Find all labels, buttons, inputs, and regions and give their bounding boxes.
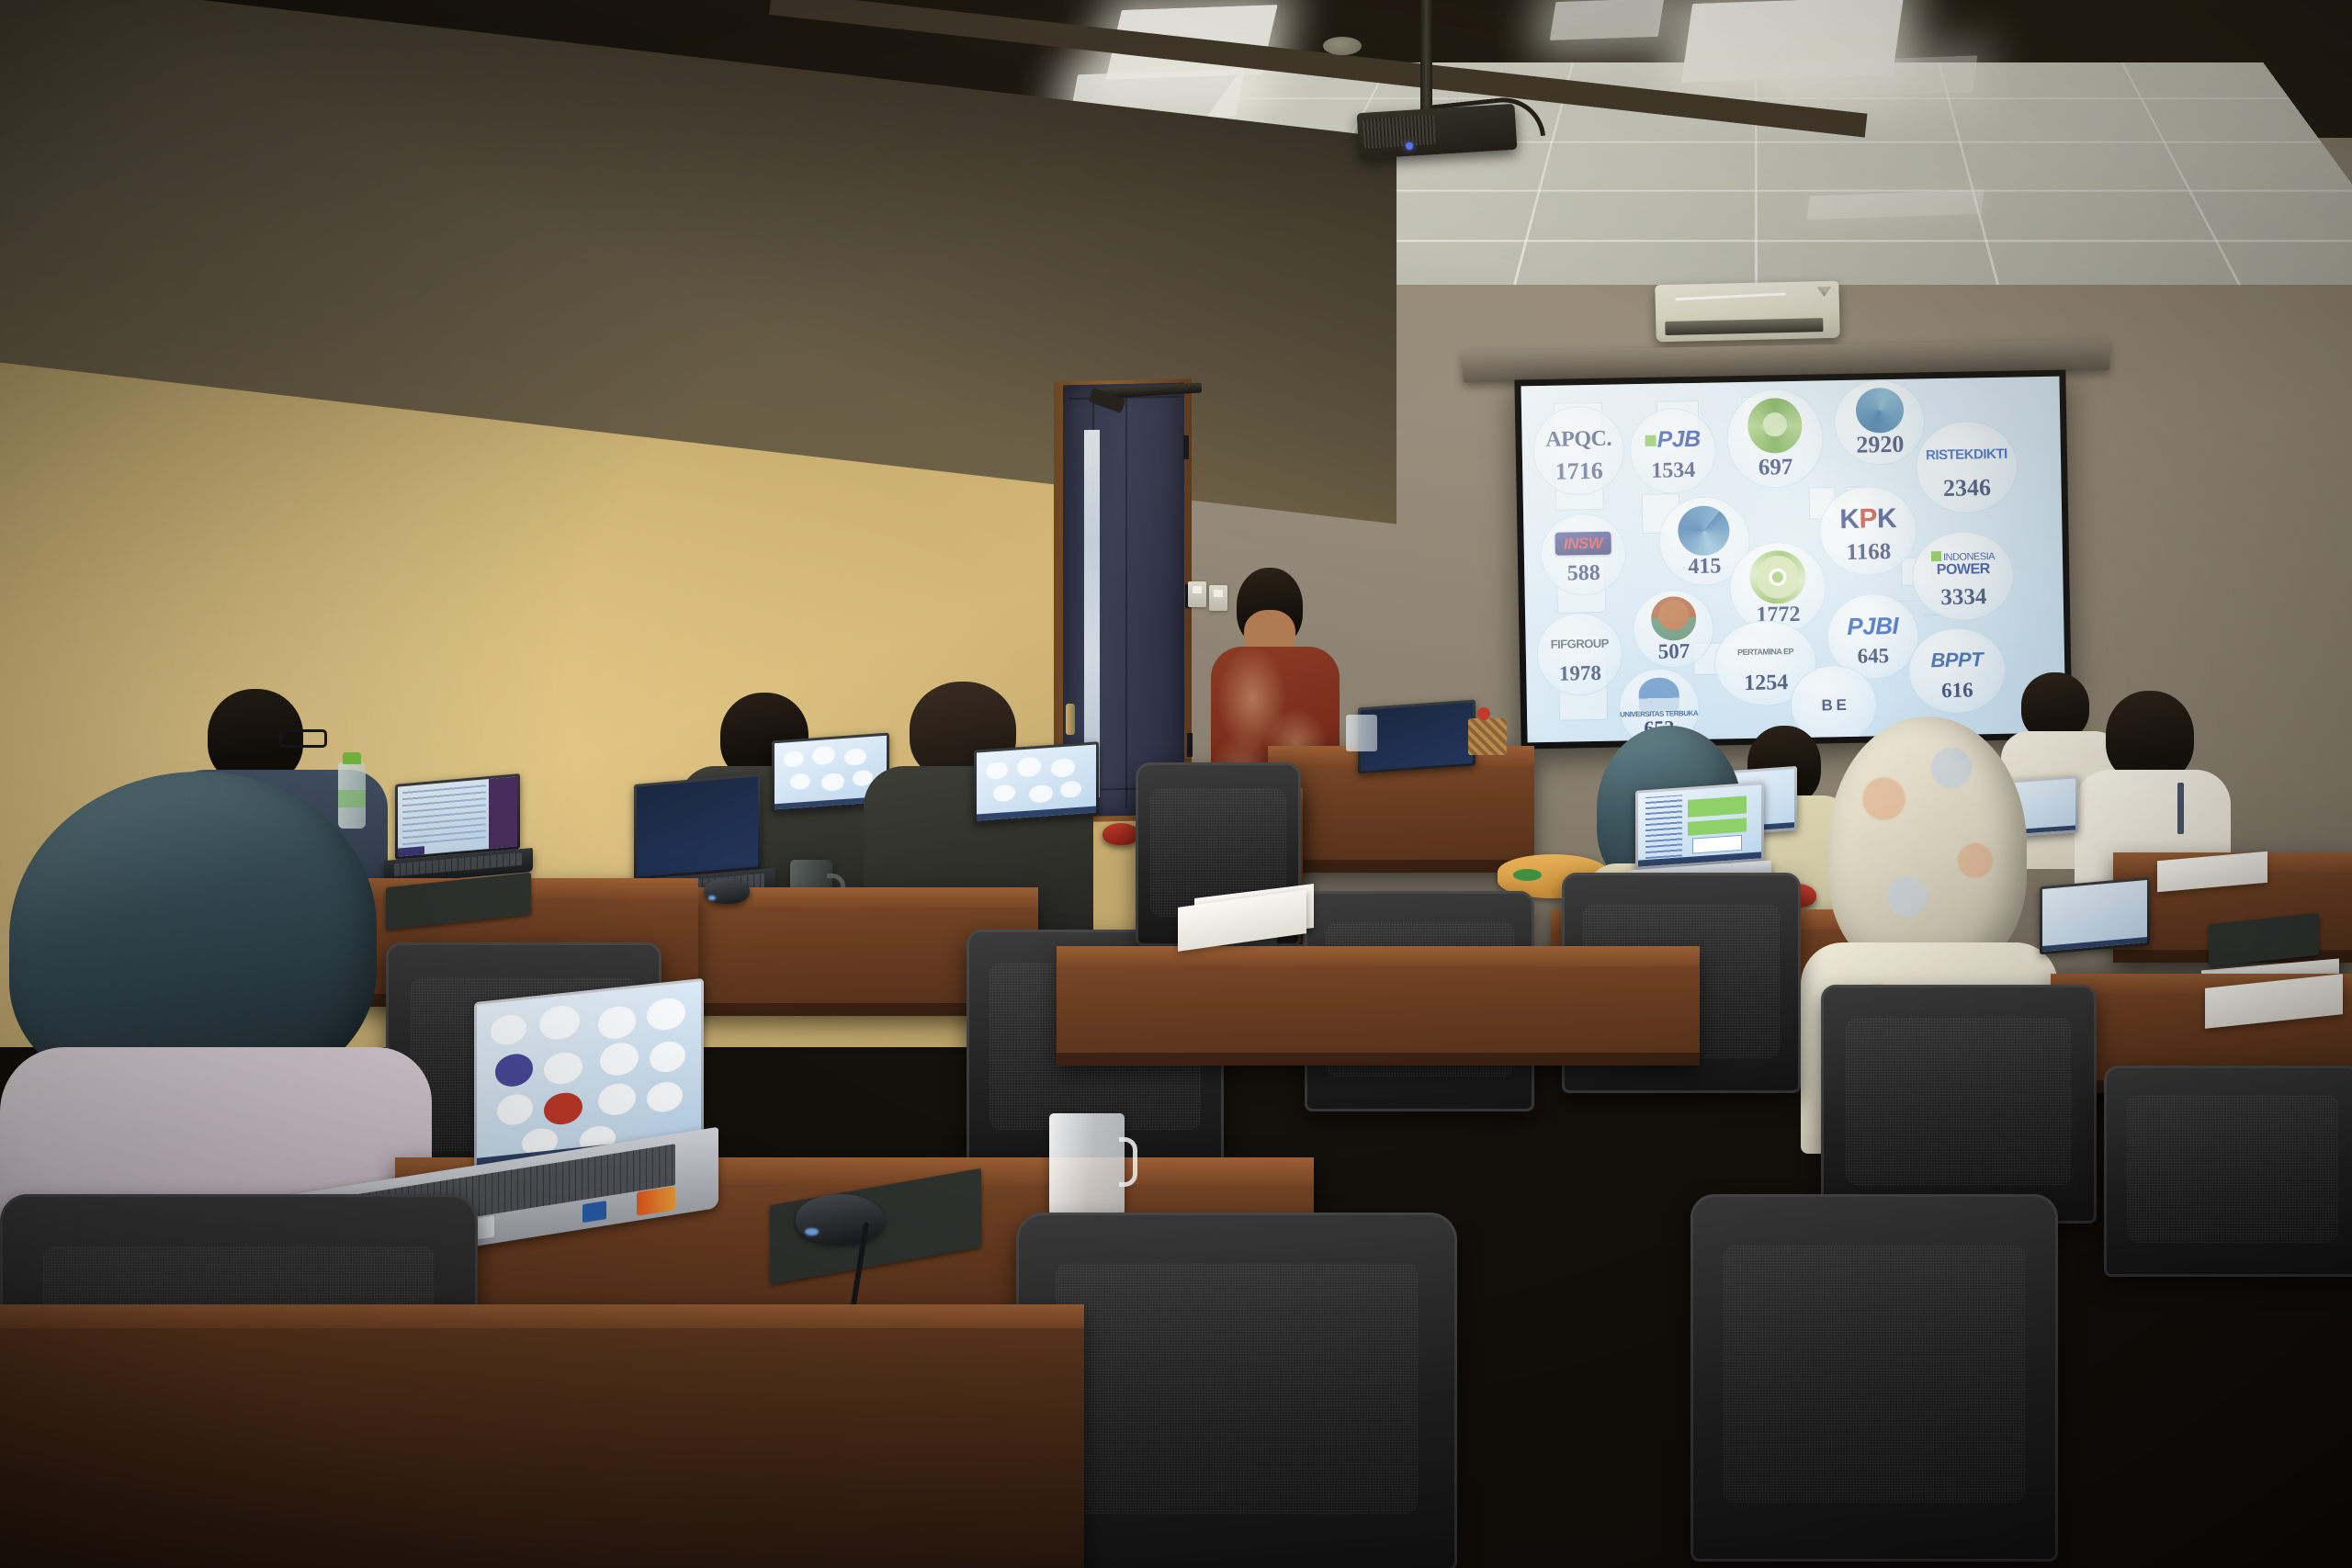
pertamina-ep-logo: PERTAMINA EP: [1714, 632, 1817, 673]
garuda-crest-icon: [1747, 397, 1803, 454]
bubble-value: 616: [1941, 680, 1973, 702]
bubble-ristekdikti: RISTEKDIKTI 2346: [1915, 420, 2018, 514]
water-glass: [1346, 715, 1377, 751]
kpk-logo: KPK: [1819, 499, 1917, 542]
bubble-insw: INSW 588: [1540, 513, 1627, 596]
ristekdikti-logo: RISTEKDIKTI: [1915, 433, 2018, 477]
office-chair[interactable]: [1821, 985, 2097, 1224]
bubble-value: 3334: [1940, 585, 1986, 609]
insw-logo: INSW: [1540, 524, 1626, 563]
door-hinge: [1187, 733, 1193, 757]
ceiling-light-panel: [1781, 55, 1978, 98]
pen-basket: [1468, 718, 1507, 755]
star-crest-icon: [1749, 550, 1806, 605]
bubble-value: 645: [1857, 645, 1889, 667]
hijab: [9, 772, 377, 1093]
bubble-value: 2920: [1856, 433, 1904, 457]
pupr-crest-icon: [1678, 505, 1730, 556]
training-room-photo: APQC. 1716 PJB 1534 697 2920 RISTEKDIKTI…: [0, 0, 2352, 1568]
projector: [1357, 104, 1518, 159]
bubble-esdm: 2920: [1833, 378, 1926, 466]
bubble-value: 697: [1758, 456, 1793, 479]
pjbi-logo: PJBI: [1826, 605, 1918, 647]
bubble-garuda: 697: [1725, 388, 1824, 490]
door-hinge: [1183, 435, 1189, 459]
bubble-value: 1254: [1744, 671, 1788, 694]
upi-crest-icon: [1650, 596, 1696, 641]
mug-foreground: [1049, 1113, 1125, 1222]
esdm-crest-icon: [1855, 388, 1904, 433]
indonesia-power-logo: INDONESIA POWER: [1912, 542, 2015, 587]
projection-screen-frame: APQC. 1716 PJB 1534 697 2920 RISTEKDIKTI…: [1514, 370, 2072, 750]
bubble-apqc: APQC. 1716: [1532, 406, 1625, 497]
lanyard: [2177, 783, 2184, 834]
bubble-pjb: PJB 1534: [1629, 408, 1716, 495]
projected-slide: APQC. 1716 PJB 1534 697 2920 RISTEKDIKTI…: [1521, 377, 2065, 743]
projector-mount-pole: [1420, 0, 1432, 118]
laptop-sticker: [582, 1201, 606, 1223]
pjb-logo: PJB: [1629, 420, 1716, 461]
smoke-detector-icon: [1323, 37, 1362, 55]
bubble-indonesia-power: INDONESIA POWER 3334: [1911, 530, 2015, 621]
desk-front-edge: [0, 1304, 1084, 1568]
bubble-value: 1168: [1846, 540, 1891, 564]
mouse[interactable]: [704, 878, 750, 904]
eyeglasses-icon: [279, 729, 327, 748]
ut-crest-icon: [1638, 677, 1679, 711]
hijab: [1828, 716, 2027, 974]
bubble-value: 2346: [1943, 476, 1991, 501]
bubble-value: 588: [1566, 562, 1600, 585]
fifgroup-logo: FIFGROUP: [1536, 624, 1623, 663]
bubble-value: 415: [1688, 555, 1721, 578]
bubble-value: 1534: [1651, 459, 1695, 482]
bubble-value: 1716: [1555, 459, 1602, 484]
bubble-fifgroup: FIFGROUP 1978: [1536, 613, 1623, 696]
ceiling-light-panel: [1550, 0, 1665, 40]
bubble-value: 507: [1657, 640, 1690, 662]
light-switch-plate[interactable]: [1188, 581, 1206, 607]
bubble-value: 1978: [1559, 662, 1601, 684]
decor-item: [1477, 707, 1490, 720]
projector-led-icon: [1406, 142, 1413, 150]
laptop-sticker: [637, 1186, 675, 1216]
apqc-logo: APQC.: [1532, 418, 1624, 460]
office-chair[interactable]: [1690, 1194, 2058, 1562]
desk-center: [1057, 946, 1700, 1066]
air-conditioner: [1655, 281, 1839, 343]
bppt-logo: BPPT: [1908, 639, 2006, 681]
mouse-foreground[interactable]: [796, 1194, 884, 1244]
office-chair[interactable]: [2104, 1066, 2352, 1277]
mouse[interactable]: [1102, 823, 1139, 845]
bubble-bppt: BPPT 616: [1907, 626, 2006, 714]
